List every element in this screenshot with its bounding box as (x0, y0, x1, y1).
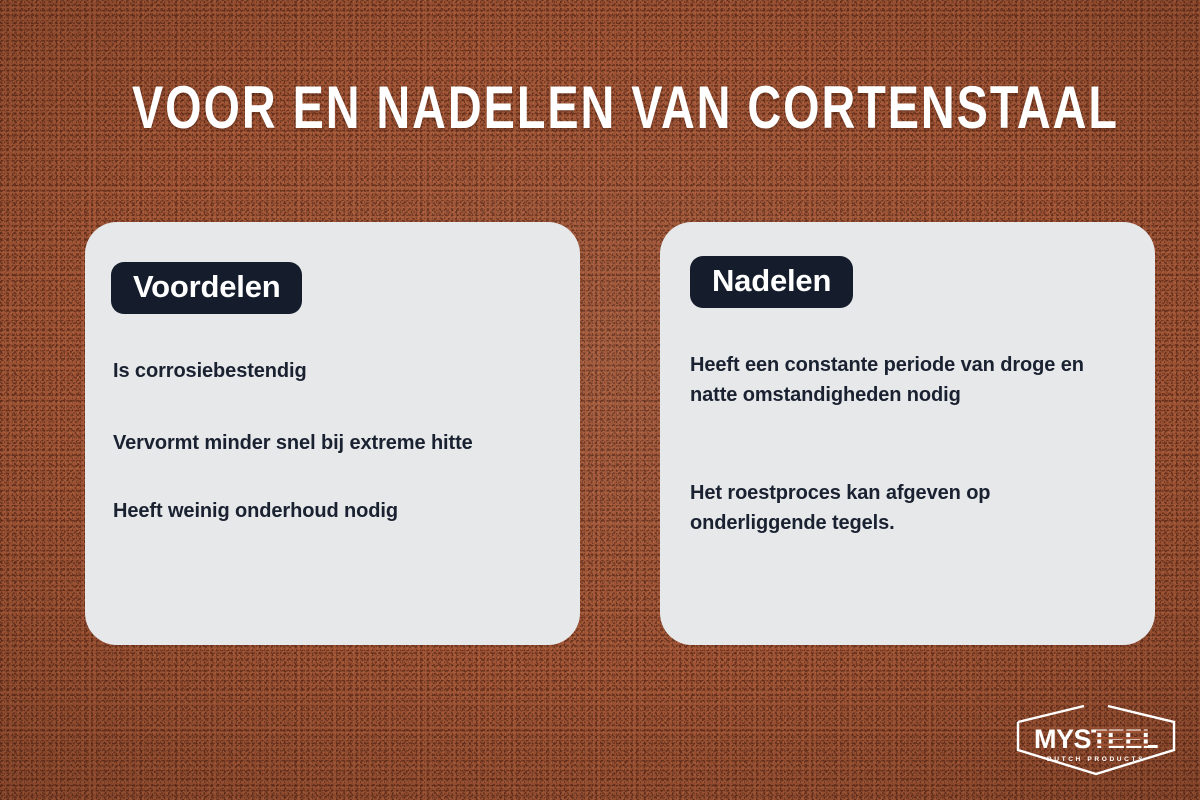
pros-list: Is corrosiebestendig Vervormt minder sne… (113, 356, 543, 526)
poster-canvas: VOOR EN NADELEN VAN CORTENSTAAL Voordele… (0, 0, 1200, 800)
list-item: Is corrosiebestendig (113, 356, 543, 386)
page-title: VOOR EN NADELEN VAN CORTENSTAAL (132, 78, 1068, 138)
logo-stripes (1096, 731, 1148, 746)
list-item: Vervormt minder snel bij extreme hitte (113, 428, 543, 458)
mysteel-logo-icon: MYSTEEL DUTCH PRODUCTS (1012, 700, 1180, 778)
list-item: Heeft een constante periode van droge en… (690, 350, 1105, 410)
cons-card: Nadelen Heeft een constante periode van … (660, 222, 1155, 645)
pros-heading-pill: Voordelen (111, 262, 302, 314)
cons-list: Heeft een constante periode van droge en… (690, 350, 1105, 538)
logo-tagline: DUTCH PRODUCTS (1047, 756, 1145, 763)
cons-heading-pill: Nadelen (690, 256, 853, 308)
list-item: Het roestproces kan afgeven op onderligg… (690, 478, 1105, 538)
list-item: Heeft weinig onderhoud nodig (113, 496, 543, 526)
mysteel-logo: MYSTEEL DUTCH PRODUCTS (1012, 700, 1180, 778)
pros-card: Voordelen Is corrosiebestendig Vervormt … (85, 222, 580, 645)
